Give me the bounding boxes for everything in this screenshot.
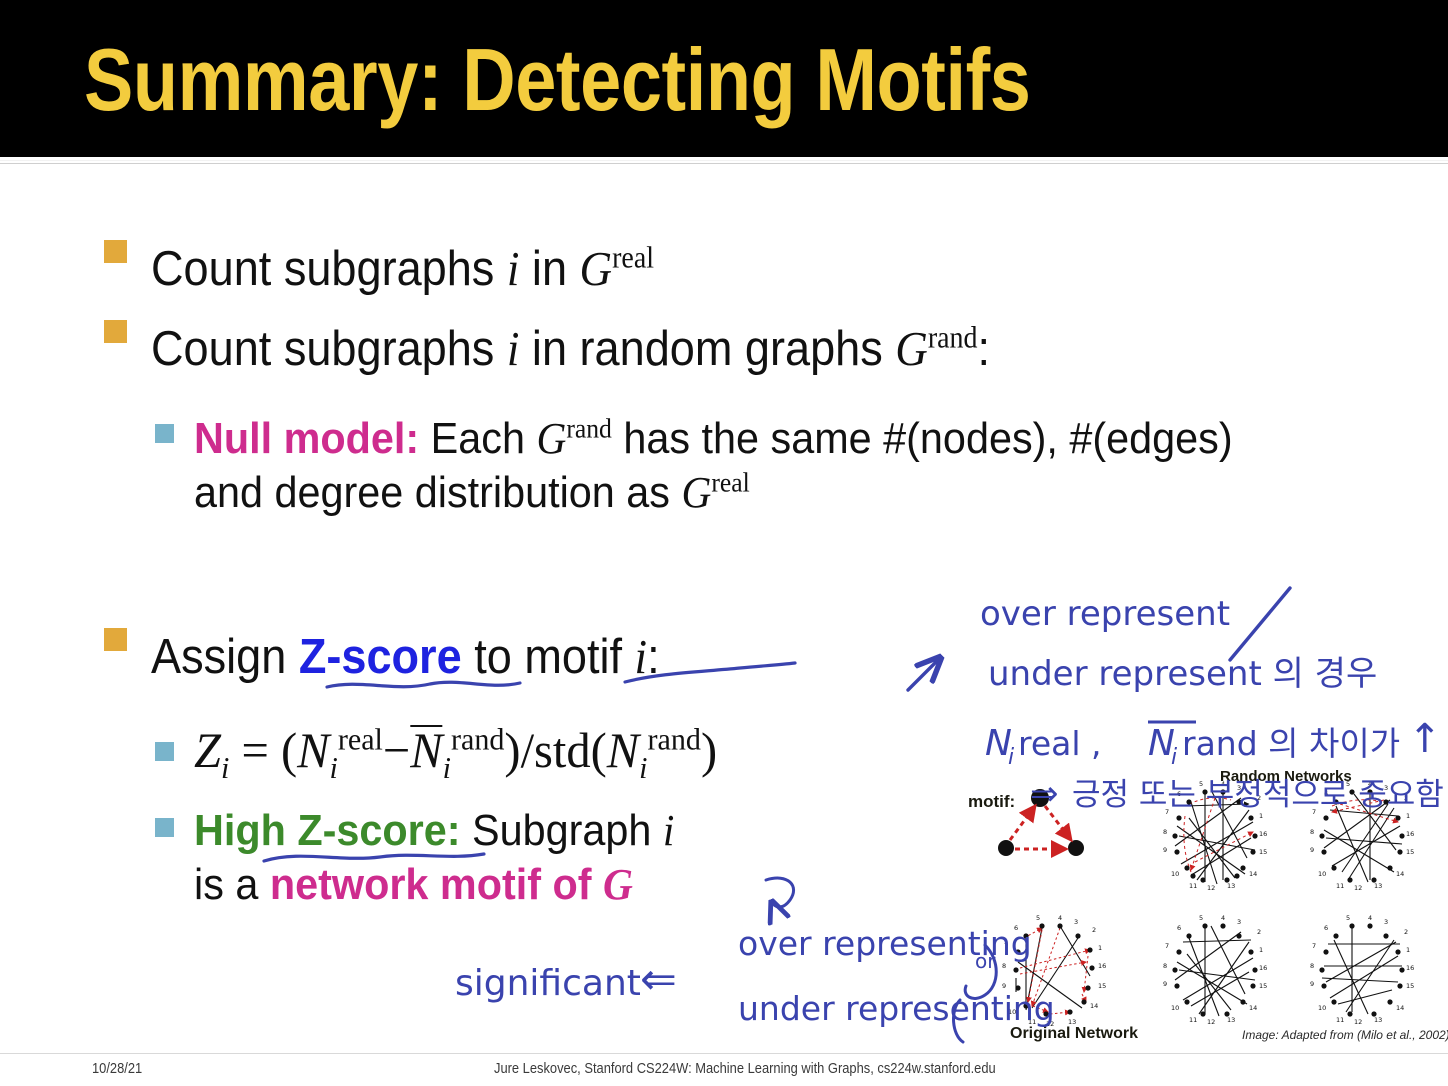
svg-text:7: 7	[1312, 808, 1316, 816]
figure-random-networks-label: Random Networks	[1220, 768, 1352, 785]
svg-text:6: 6	[1324, 790, 1328, 798]
svg-text:3: 3	[1384, 784, 1388, 792]
formula-eq: = (	[229, 722, 297, 778]
b1-var-g: G	[580, 241, 613, 296]
svg-text:2: 2	[1404, 794, 1408, 802]
bullet-1-text: Count subgraphs i in Greal	[151, 240, 654, 298]
title-divider-dark	[0, 163, 1448, 164]
figure-graphics: 43 56 78 910 1112 1314 1516 12	[966, 770, 1444, 1055]
b1-superscript: real	[612, 241, 654, 275]
svg-text:10: 10	[1171, 1004, 1179, 1012]
svg-text:5: 5	[1199, 780, 1203, 788]
svg-text:2: 2	[1092, 926, 1096, 934]
bullet-assign-zscore: Assign Z-score to motif i:	[104, 628, 704, 686]
svg-text:9: 9	[1163, 846, 1167, 854]
svg-text:12: 12	[1354, 884, 1362, 892]
svg-text:13: 13	[1227, 882, 1235, 890]
svg-text:4: 4	[1368, 780, 1372, 788]
footer-attribution: Jure Leskovec, Stanford CS224W: Machine …	[494, 1060, 996, 1086]
svg-text:14: 14	[1396, 1004, 1404, 1012]
b2-prefix: Count subgraphs	[151, 322, 507, 376]
high-zscore-var-g: G	[603, 860, 633, 909]
formula-n3: N	[607, 722, 639, 778]
svg-text:8: 8	[1163, 962, 1167, 970]
svg-text:11: 11	[1189, 1016, 1197, 1024]
svg-text:8: 8	[1310, 828, 1314, 836]
bullet-square-icon	[104, 240, 127, 263]
svg-text:7: 7	[1165, 942, 1169, 950]
null-model-label: Null model:	[194, 414, 419, 463]
svg-text:12: 12	[1207, 1018, 1215, 1026]
svg-text:2: 2	[1257, 928, 1261, 936]
svg-text:9: 9	[1310, 846, 1314, 854]
svg-text:9: 9	[1002, 982, 1006, 990]
formula-n2-bar: N	[410, 725, 442, 773]
b2-mid: in random graphs	[519, 322, 895, 376]
svg-text:4: 4	[1058, 914, 1062, 922]
null-model-text: Null model: Each Grand has the same #(no…	[194, 412, 1247, 520]
null-model-var-g2: G	[681, 468, 711, 517]
svg-text:1: 1	[1259, 946, 1263, 954]
high-zscore-text: High Z-score: Subgraph iis a network mot…	[194, 804, 852, 912]
b1-var-i: i	[507, 241, 520, 296]
figure-credit: Image: Adapted from (Milo et al., 2002)	[1242, 1028, 1448, 1042]
svg-text:1: 1	[1259, 812, 1263, 820]
random-network-3: 43 56 78 910 1112 1314 1516 12	[1163, 914, 1267, 1026]
svg-text:3: 3	[1384, 918, 1388, 926]
svg-text:4: 4	[1368, 914, 1372, 922]
svg-text:11: 11	[1336, 882, 1344, 890]
svg-text:5: 5	[1346, 914, 1350, 922]
svg-text:10: 10	[1318, 870, 1326, 878]
formula-n2-sup: rand	[451, 721, 504, 756]
b2-suffix: :	[978, 322, 991, 376]
svg-text:7: 7	[1165, 808, 1169, 816]
null-model-t1: Each	[419, 414, 536, 463]
zscore-var-i: i	[635, 629, 648, 684]
svg-text:1: 1	[1406, 812, 1410, 820]
svg-text:7: 7	[1004, 942, 1008, 950]
bullet-square-icon	[104, 320, 127, 343]
svg-text:11: 11	[1189, 882, 1197, 890]
svg-text:2: 2	[1257, 794, 1261, 802]
svg-text:6: 6	[1324, 924, 1328, 932]
svg-text:13: 13	[1227, 1016, 1235, 1024]
sub-bullet-square-icon	[155, 424, 174, 443]
zscore-highlight: Z-score	[299, 630, 462, 684]
zscore-suffix: :	[647, 630, 660, 684]
null-model-sup1: rand	[566, 413, 612, 443]
bullet-count-subgraphs-real: Count subgraphs i in Greal	[104, 240, 698, 298]
svg-text:12: 12	[1354, 1018, 1362, 1026]
high-zscore-t2: is a	[194, 860, 270, 909]
svg-text:7: 7	[1312, 942, 1316, 950]
svg-text:15: 15	[1259, 982, 1267, 990]
formula-n1-sup: real	[338, 721, 383, 756]
high-zscore-label: High Z-score:	[194, 806, 461, 855]
figure-motif-label: motif:	[968, 792, 1015, 812]
zscore-prefix: Assign	[151, 630, 299, 684]
high-zscore-pink: network motif of	[270, 860, 603, 909]
svg-text:15: 15	[1406, 982, 1414, 990]
svg-text:12: 12	[1207, 884, 1215, 892]
svg-text:1: 1	[1406, 946, 1410, 954]
formula-n3-sub: i	[639, 750, 647, 785]
svg-text:14: 14	[1090, 1002, 1098, 1010]
sub-bullet-null-model: Null model: Each Grand has the same #(no…	[155, 412, 1335, 520]
random-network-2: 43 56 78 910 1112 1314 1516 12	[1310, 780, 1414, 892]
bullet-2-text: Count subgraphs i in random graphs Grand…	[151, 320, 990, 378]
bullet-count-subgraphs-rand: Count subgraphs i in random graphs Grand…	[104, 320, 1063, 378]
high-zscore-var-i: i	[663, 806, 675, 855]
svg-text:16: 16	[1406, 964, 1414, 972]
sub-bullet-zscore-formula: Zi = (Nireal−Nirand)/std(Nirand)	[155, 720, 733, 780]
svg-text:1: 1	[1098, 944, 1102, 952]
formula-n2-sub: i	[443, 750, 451, 785]
footer-divider	[0, 1053, 1448, 1054]
title-band: Summary: Detecting Motifs	[0, 0, 1448, 157]
null-model-sup2: real	[711, 467, 749, 497]
title-divider-light	[0, 160, 1448, 161]
formula-n1: N	[297, 722, 329, 778]
formula-end: )	[701, 722, 717, 778]
svg-text:15: 15	[1098, 982, 1106, 990]
svg-text:6: 6	[1014, 924, 1018, 932]
figure-original-network-label: Original Network	[1010, 1025, 1138, 1043]
svg-text:8: 8	[1002, 962, 1006, 970]
svg-text:10: 10	[1318, 1004, 1326, 1012]
zscore-formula: Zi = (Nireal−Nirand)/std(Nirand)	[194, 720, 717, 780]
page-title: Summary: Detecting Motifs	[84, 34, 1030, 126]
random-network-1: 43 56 78 910 1112 1314 1516 12	[1163, 780, 1267, 892]
svg-text:14: 14	[1396, 870, 1404, 878]
svg-text:16: 16	[1098, 962, 1106, 970]
svg-text:15: 15	[1259, 848, 1267, 856]
zscore-bullet-text: Assign Z-score to motif i:	[151, 628, 660, 686]
svg-text:3: 3	[1237, 918, 1241, 926]
svg-text:6: 6	[1177, 790, 1181, 798]
svg-text:11: 11	[1336, 1016, 1344, 1024]
sub-bullet-high-zscore: High Z-score: Subgraph iis a network mot…	[155, 804, 915, 912]
bullet-square-icon	[104, 628, 127, 651]
svg-text:4: 4	[1221, 914, 1225, 922]
svg-text:8: 8	[1163, 828, 1167, 836]
sub-bullet-square-icon	[155, 742, 174, 761]
svg-text:8: 8	[1310, 962, 1314, 970]
svg-text:10: 10	[1008, 1008, 1016, 1016]
svg-text:15: 15	[1406, 848, 1414, 856]
high-zscore-t1: Subgraph	[461, 806, 663, 855]
svg-text:10: 10	[1171, 870, 1179, 878]
svg-text:2: 2	[1404, 928, 1408, 936]
slide-canvas: Summary: Detecting Motifs Count subgraph…	[0, 0, 1448, 1086]
formula-minus: −	[383, 722, 410, 778]
formula-closeparen: )/std(	[504, 722, 606, 778]
svg-text:3: 3	[1074, 918, 1078, 926]
random-network-4: 43 56 78 910 1112 1314 1516 12	[1310, 914, 1414, 1026]
footer-date: 10/28/21	[92, 1060, 142, 1086]
null-model-var-g1: G	[536, 414, 566, 463]
formula-n3-sup: rand	[648, 721, 701, 756]
svg-text:9: 9	[1310, 980, 1314, 988]
sub-bullet-square-icon	[155, 818, 174, 837]
b1-mid: in	[519, 242, 579, 296]
svg-text:16: 16	[1259, 830, 1267, 838]
svg-text:14: 14	[1249, 870, 1257, 878]
svg-text:16: 16	[1259, 964, 1267, 972]
original-network: 43 56 78 910 1112 1314 1516 12	[1002, 914, 1106, 1028]
svg-text:16: 16	[1406, 830, 1414, 838]
b2-var-i: i	[507, 321, 520, 376]
svg-text:9: 9	[1163, 980, 1167, 988]
b2-var-g: G	[895, 321, 928, 376]
formula-z: Z	[194, 722, 221, 778]
svg-text:6: 6	[1177, 924, 1181, 932]
svg-text:5: 5	[1036, 914, 1040, 922]
svg-text:14: 14	[1249, 1004, 1257, 1012]
motif-figure: motif: Random Networks Original Network …	[966, 770, 1444, 1055]
svg-text:13: 13	[1374, 882, 1382, 890]
b1-prefix: Count subgraphs	[151, 242, 507, 296]
zscore-mid: to motif	[462, 630, 635, 684]
svg-text:5: 5	[1199, 914, 1203, 922]
svg-text:13: 13	[1374, 1016, 1382, 1024]
b2-superscript: rand	[928, 321, 978, 355]
svg-text:3: 3	[1237, 784, 1241, 792]
